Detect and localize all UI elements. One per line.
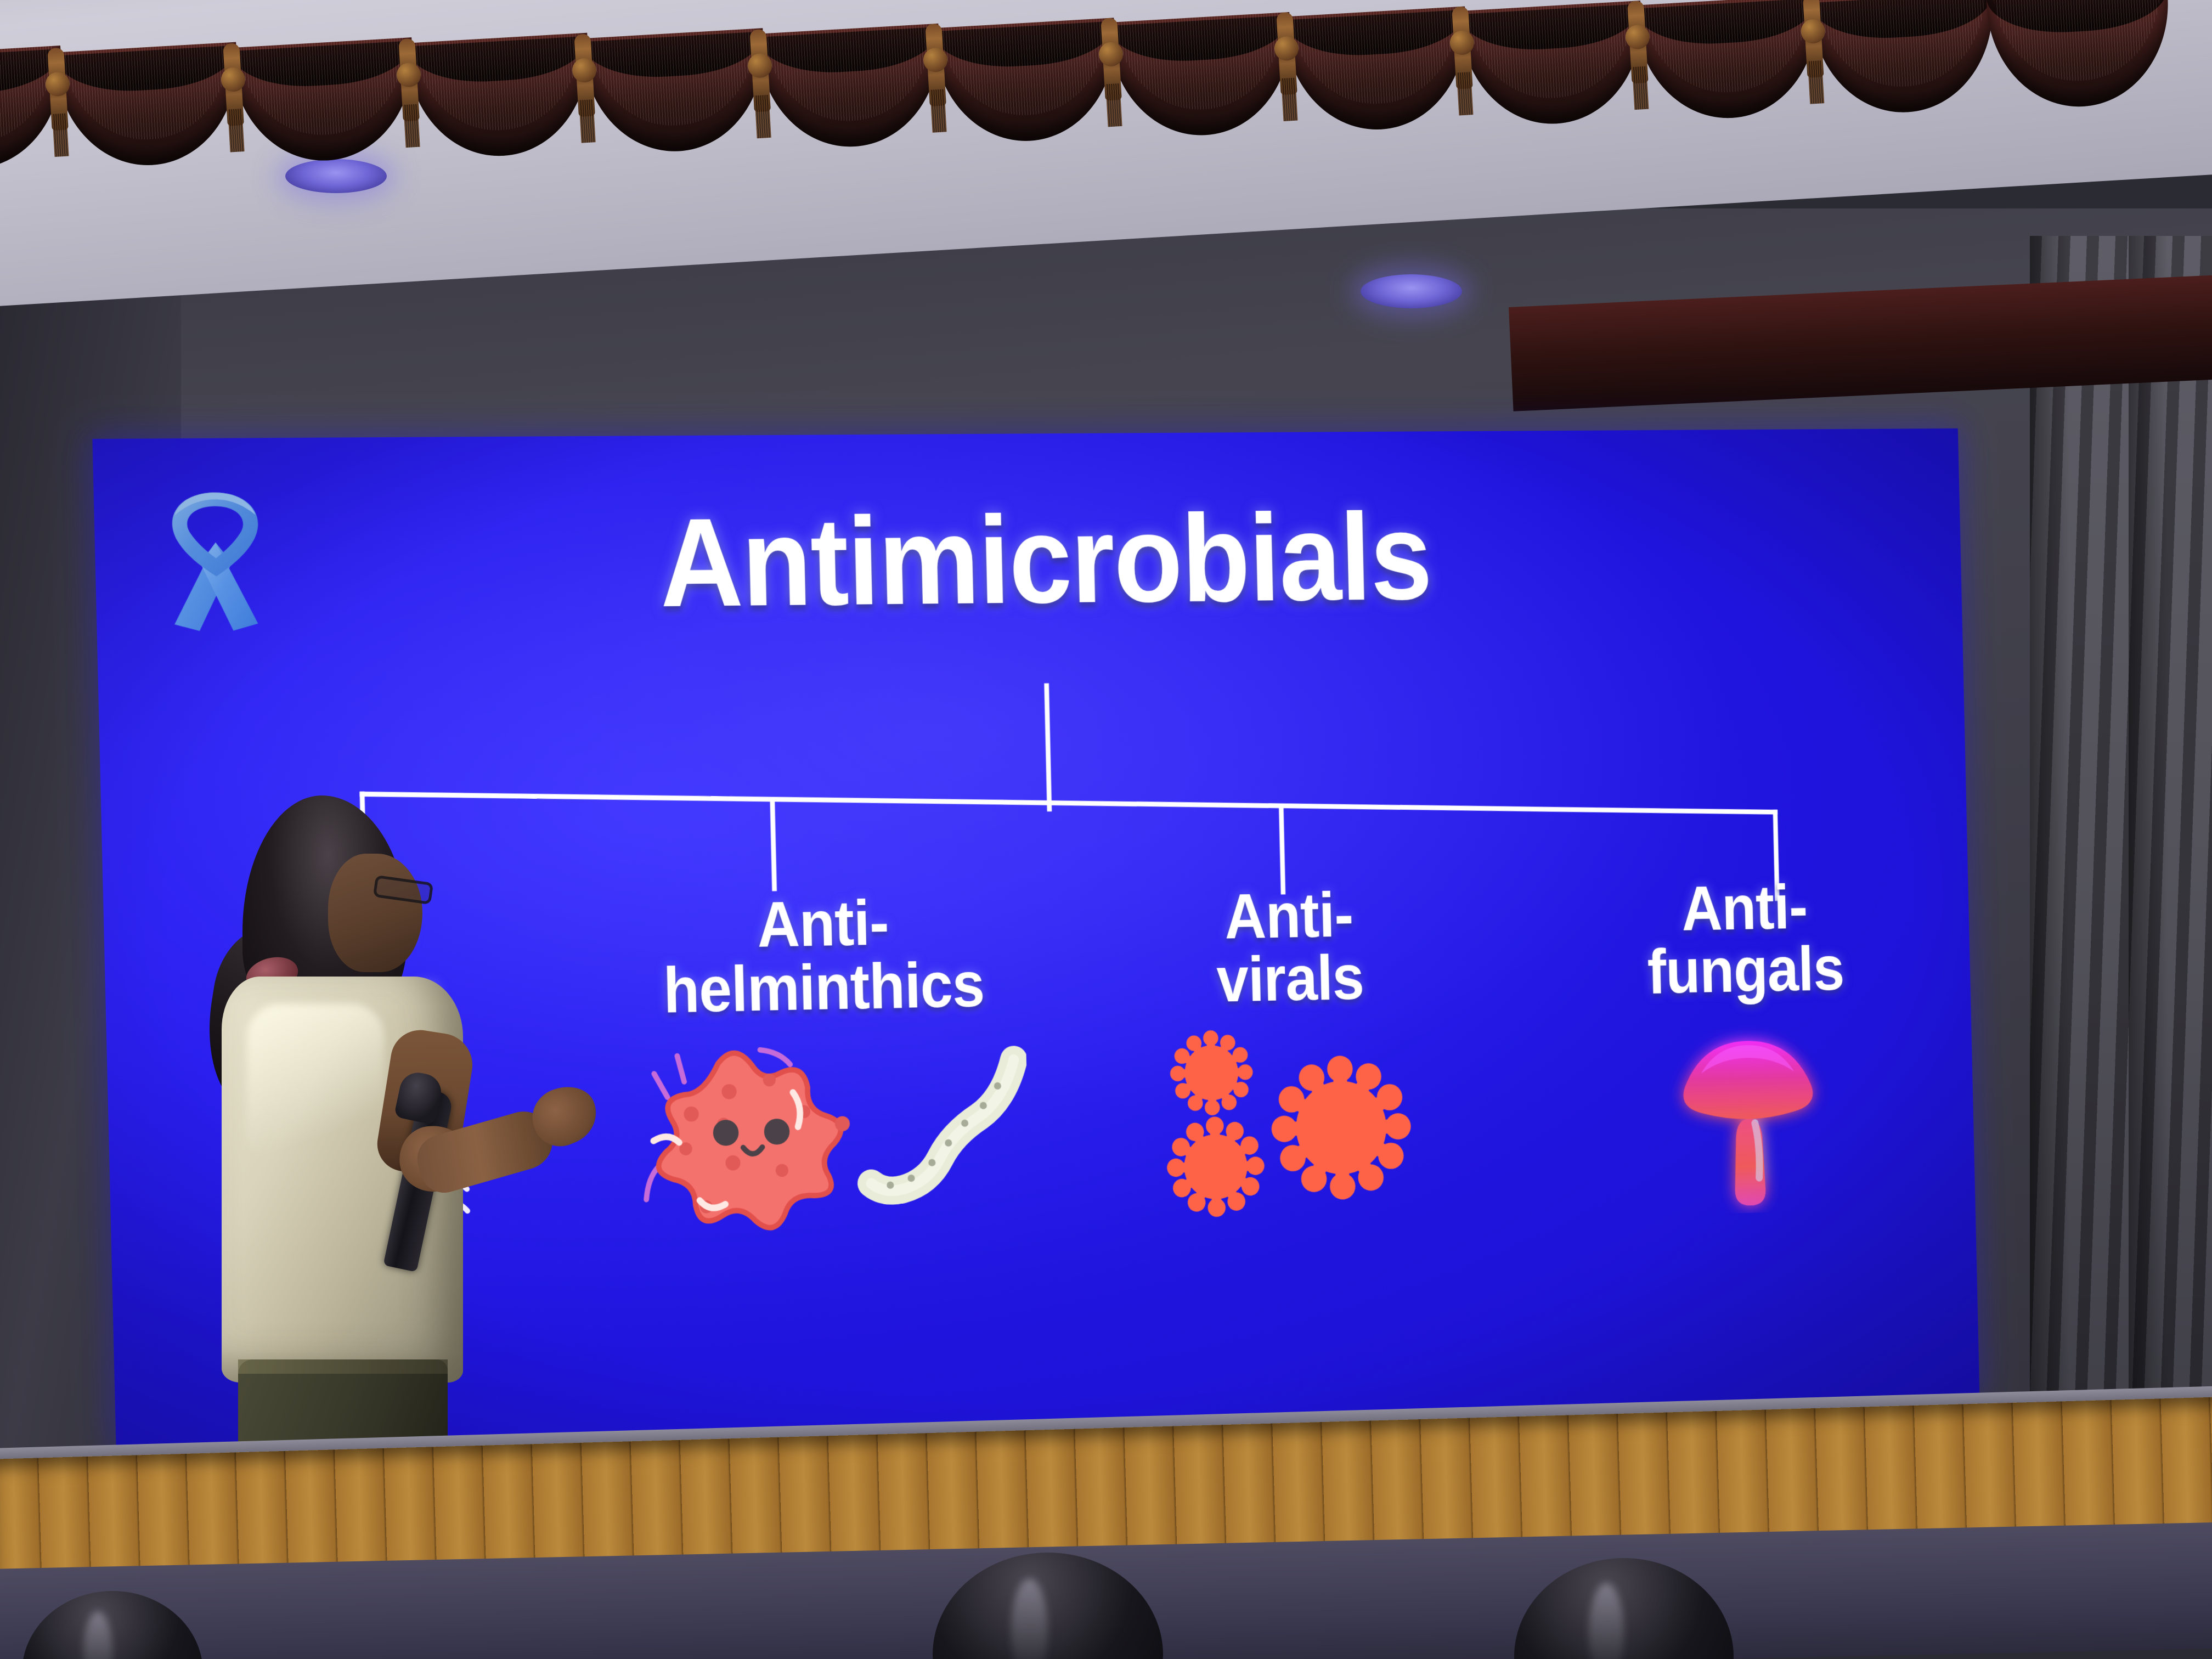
- category-label: Anti- fungals: [1531, 873, 1957, 1006]
- presenter-face: [328, 854, 422, 972]
- lecture-hall-photo: Antimicrobials An: [0, 0, 2212, 1659]
- ceiling-downlight: [1361, 274, 1462, 308]
- valance-swag: [1109, 12, 1296, 140]
- valance-swag: [1284, 7, 1472, 135]
- presenter-skirt-trim: [238, 1359, 448, 1374]
- valance-swag: [1635, 0, 1822, 123]
- right-curtain: [2030, 236, 2212, 1498]
- page-title: Antimicrobials: [162, 493, 1899, 630]
- valance-swag: [55, 42, 243, 171]
- presenter-top-highlight: [247, 1004, 384, 1169]
- valance-swag: [933, 18, 1121, 146]
- valance-swag: [407, 33, 594, 161]
- virus-cluster-icon: [1059, 1014, 1525, 1238]
- amoeba-parasite-icon: [589, 1024, 1065, 1250]
- valance-swag: [1460, 1, 1647, 129]
- mushroom-icon: [1520, 1006, 1976, 1227]
- category-label: Anti- helminthics: [600, 889, 1046, 1024]
- valance-swag: [231, 37, 419, 166]
- category-antifungals: Anti- fungals: [1517, 873, 1976, 1227]
- valance-swag: [582, 28, 770, 156]
- category-label: Anti- virals: [1070, 881, 1506, 1015]
- category-antivirals: Anti- virals: [1057, 881, 1525, 1238]
- category-antihelminthics: Anti- helminthics: [585, 888, 1065, 1250]
- valance-swag: [758, 24, 945, 152]
